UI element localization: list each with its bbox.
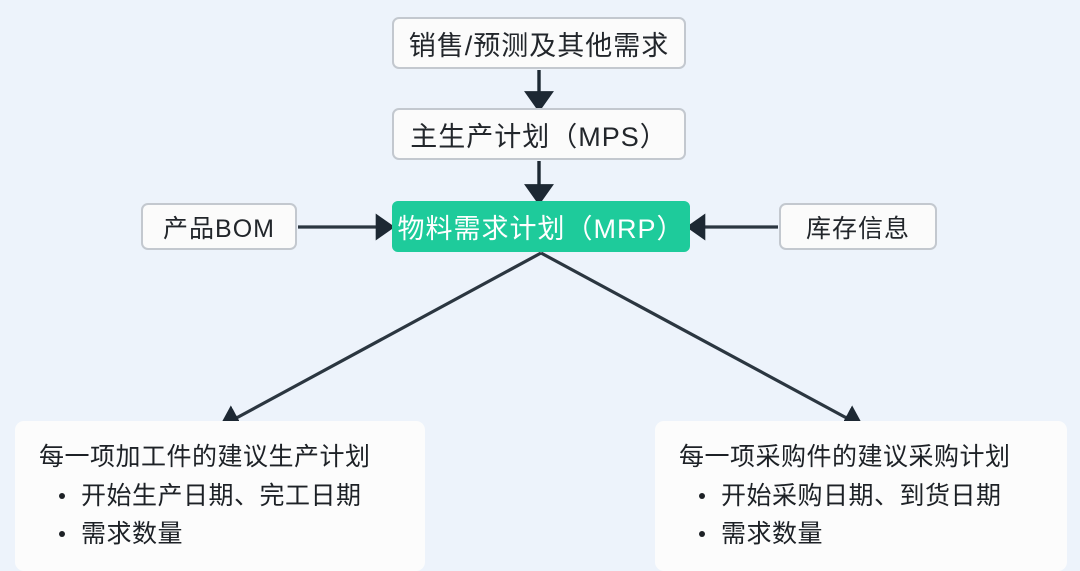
node-master-production-schedule[interactable]: 主生产计划（MPS） [392,108,686,160]
node-bom-label: 产品BOM [163,209,275,245]
bullet-dot-icon [699,531,705,537]
outcome-production-list: 开始生产日期、完工日期 需求数量 [15,477,425,553]
list-item: 开始采购日期、到货日期 [721,477,1067,515]
bullet-dot-icon [699,493,705,499]
flowchart-canvas: 销售/预测及其他需求 主生产计划（MPS） 物料需求计划（MRP） 产品BOM … [0,0,1080,559]
bullet-dot-icon [59,493,65,499]
node-sales-label: 销售/预测及其他需求 [409,24,670,63]
list-item: 需求数量 [81,515,425,553]
outcome-production-plan[interactable]: 每一项加工件的建议生产计划 开始生产日期、完工日期 需求数量 [15,421,425,571]
node-inventory-label: 库存信息 [806,209,910,245]
outcome-purchase-title: 每一项采购件的建议采购计划 [655,443,1067,473]
list-item-label: 开始采购日期、到货日期 [721,482,1002,510]
outcome-purchase-plan[interactable]: 每一项采购件的建议采购计划 开始采购日期、到货日期 需求数量 [655,421,1067,571]
node-mrp-label: 物料需求计划（MRP） [398,207,685,246]
list-item: 需求数量 [721,515,1067,553]
bullet-dot-icon [59,531,65,537]
list-item-label: 开始生产日期、完工日期 [81,482,362,510]
outcome-purchase-list: 开始采购日期、到货日期 需求数量 [655,477,1067,553]
connector-mrp-to-production [229,253,541,422]
node-material-requirements-planning[interactable]: 物料需求计划（MRP） [392,201,690,252]
node-product-bom[interactable]: 产品BOM [141,203,297,250]
node-inventory-information[interactable]: 库存信息 [779,203,937,250]
list-item-label: 需求数量 [81,520,183,548]
connector-mrp-to-purchase [541,253,854,422]
list-item-label: 需求数量 [721,520,823,548]
list-item: 开始生产日期、完工日期 [81,477,425,515]
outcome-production-title: 每一项加工件的建议生产计划 [15,443,425,473]
node-sales-forecast-demand[interactable]: 销售/预测及其他需求 [392,17,686,69]
node-mps-label: 主生产计划（MPS） [410,115,668,154]
